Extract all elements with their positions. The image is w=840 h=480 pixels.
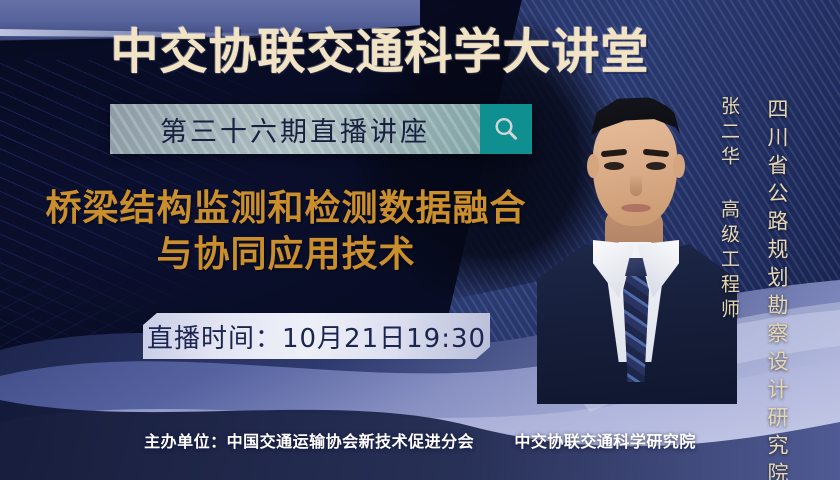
session-banner-body: 第三十六期直播讲座 [110,104,480,154]
speaker-mouth [621,204,651,212]
session-banner: 第三十六期直播讲座 [110,104,532,154]
speaker-organization: 四川省公路规划勘察设计研究院有限公司 [762,98,792,480]
speaker-name-title: 张二华 高级工程师 [716,96,743,324]
main-title: 中交协联交通科学大讲堂 [0,12,760,82]
speaker-ear-right [673,154,685,178]
speaker-necktie [623,264,649,382]
footer-organizer-secondary: 中交协联交通科学研究院 [514,432,696,451]
broadcast-time-text: 直播时间：10月21日19:30 [147,318,486,355]
speaker-photo [545,58,727,398]
session-banner-label: 第三十六期直播讲座 [160,110,430,149]
lecture-title-line1: 桥梁结构监测和检测数据融合 [45,188,526,229]
footer-organizer-primary: 主办单位：中国交通运输协会新技术促进分会 [144,432,474,451]
webinar-poster: 中交协联交通科学大讲堂 第三十六期直播讲座 桥梁结构监测和检测数据融合 与协同应… [0,0,840,480]
broadcast-time-badge: 直播时间：10月21日19:30 [143,313,490,359]
footer-organizers: 主办单位：中国交通运输协会新技术促进分会 中交协联交通科学研究院 [0,428,840,452]
speaker-eye-right [646,162,666,170]
speaker-ear-left [587,154,599,178]
search-icon [480,104,532,154]
lecture-title: 桥梁结构监测和检测数据融合 与协同应用技术 [22,186,550,278]
lecture-title-line2: 与协同应用技术 [22,232,550,278]
speaker-nose [630,174,642,196]
speaker-eye-left [604,162,624,170]
